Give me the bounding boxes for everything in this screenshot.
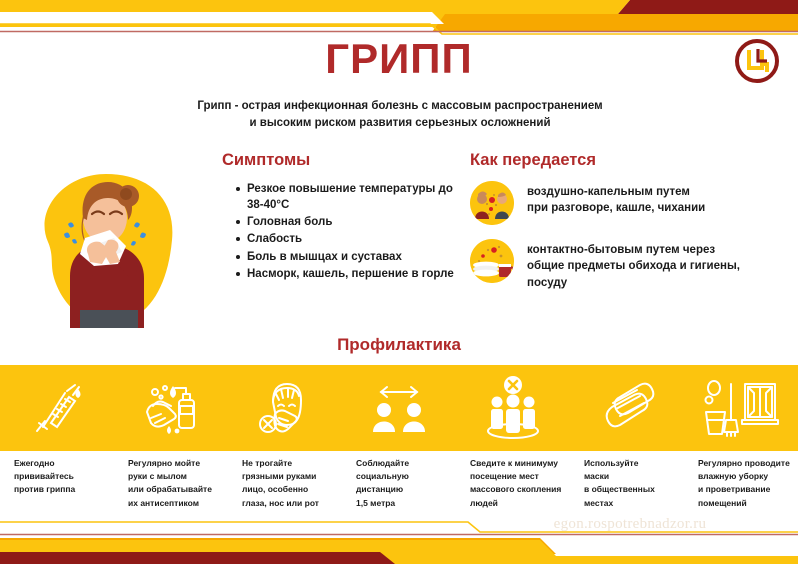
prevention-caption: Соблюдайте социальную дистанцию 1,5 метр… [342,457,456,510]
social-distance-icon [367,378,431,438]
page-title: ГРИПП [0,38,798,80]
prevention-caption: Регулярно мойте руки с мылом или обрабат… [114,457,228,510]
prevention-icon-cell [570,365,684,451]
prevention-icon-cell [228,365,342,451]
face-mask-icon [596,377,658,439]
transmission-text: воздушно-капельным путем при разговоре, … [527,181,705,217]
prevention-icon-cell [456,365,570,451]
transmission-text: контактно-бытовым путем через общие пред… [527,239,740,292]
no-crowd-icon [480,375,546,441]
bottom-dark-red-band [0,552,395,564]
watermark: egon.rospotrebnadzor.ru [480,516,780,533]
top-thin-yellow-line [0,24,798,34]
sneezing-woman-icon [22,168,184,328]
page-subtitle: Грипп - острая инфекционная болезнь с ма… [150,98,650,131]
bottom-yellow-band [0,540,798,564]
two-people-droplets-icon [470,181,514,225]
prevention-caption: Ежегодно прививайтесь против гриппа [0,457,114,510]
list-item: Головная боль [236,214,457,230]
list-item: Резкое повышение температуры до 38-40°C [236,181,457,214]
infographic-poster: ГРИПП Грипп - острая инфекционная болезн… [0,0,798,564]
prevention-caption: Сведите к минимуму посещение мест массов… [456,457,570,510]
symptoms-section: Симптомы Резкое повышение температуры до… [222,152,457,283]
dishes-mug-icon [470,239,514,283]
rospotrebnadzor-logo-icon [734,38,780,84]
no-touch-face-icon [255,376,315,440]
prevention-heading: Профилактика [0,336,798,353]
list-item: Слабость [236,231,457,247]
list-item: контактно-бытовым путем через общие пред… [470,239,785,292]
cleaning-airing-icon [703,376,779,440]
top-amber-strip [432,14,798,32]
prevention-caption: Не трогайте грязными руками лицо, особен… [228,457,342,510]
bottom-white-notch [556,540,798,552]
list-item: воздушно-капельным путем при разговоре, … [470,181,785,225]
symptoms-list: Резкое повышение температуры до 38-40°C … [222,181,457,283]
handwash-soap-icon [139,376,203,440]
prevention-caption: Регулярно проводите влажную уборку и про… [684,457,798,510]
list-item: Насморк, кашель, першение в горле [236,266,457,282]
list-item: Боль в мышцах и суставах [236,249,457,265]
bottom-amber-strip [0,538,556,554]
transmission-section: Как передается [470,152,785,306]
prevention-captions-row: Ежегодно прививайтесь против гриппа Регу… [0,457,798,510]
prevention-icon-cell [684,365,798,451]
transmission-heading: Как передается [470,152,785,169]
top-yellow-band [0,0,798,27]
prevention-icons-row [0,365,798,451]
prevention-caption: Используйте маски в общественных местах [570,457,684,510]
prevention-icon-cell [342,365,456,451]
prevention-icon-cell [0,365,114,451]
prevention-icon-cell [114,365,228,451]
top-dark-red-band [618,0,798,14]
top-white-notch [0,12,444,24]
symptoms-heading: Симптомы [222,152,457,169]
syringe-icon [29,377,85,439]
